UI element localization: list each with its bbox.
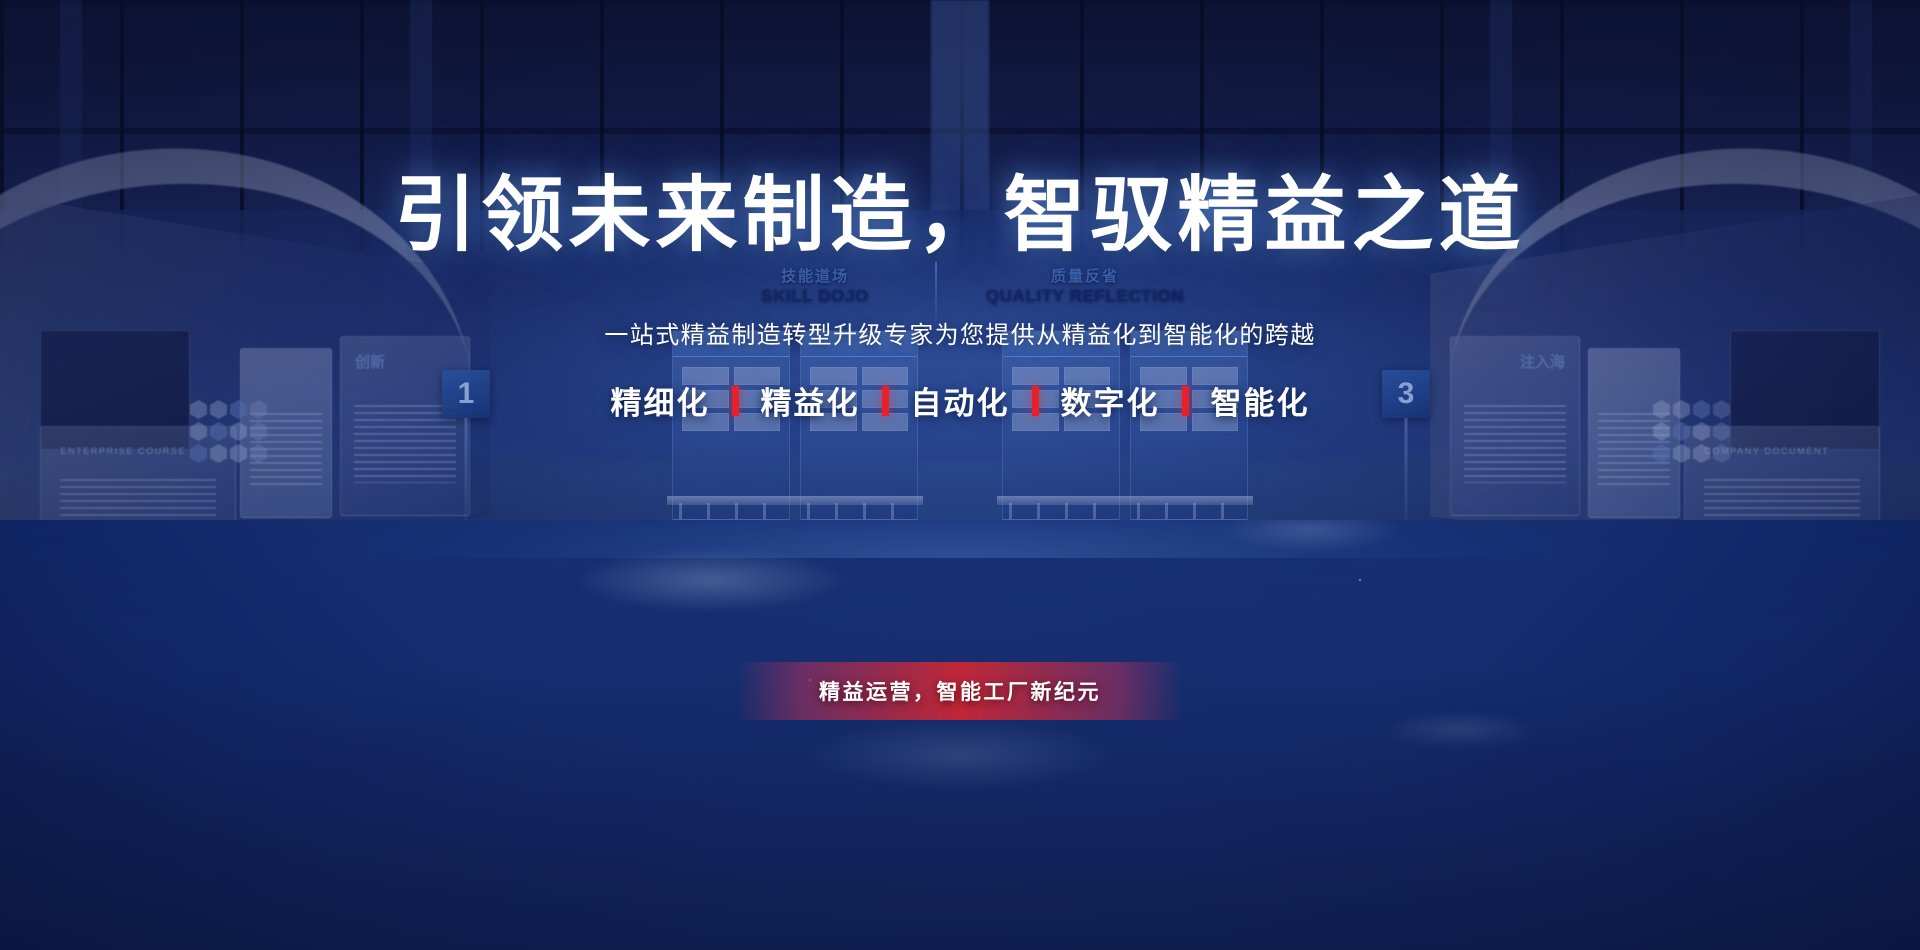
keyword-item: 精益化 bbox=[761, 378, 860, 423]
keyword-separator-icon bbox=[1182, 386, 1189, 416]
keyword-item: 智能化 bbox=[1211, 378, 1310, 423]
keyword-list: 精细化 精益化 自动化 数字化 智能化 bbox=[611, 378, 1310, 423]
keyword-item: 数字化 bbox=[1061, 378, 1160, 423]
keyword-item: 精细化 bbox=[611, 378, 710, 423]
keyword-separator-icon bbox=[882, 386, 889, 416]
banner-content: 引领未来制造，智驭精益之道 一站式精益制造转型升级专家为您提供从精益化到智能化的… bbox=[0, 0, 1920, 950]
keyword-separator-icon bbox=[1032, 386, 1039, 416]
banner-stage: ENTERPRISE COURSE 创新 COMPANY DOCUMENT bbox=[0, 0, 1920, 950]
keyword-item: 自动化 bbox=[911, 378, 1010, 423]
keyword-separator-icon bbox=[732, 386, 739, 416]
headline-title: 引领未来制造，智驭精益之道 bbox=[394, 148, 1525, 267]
subheadline-text: 一站式精益制造转型升级专家为您提供从精益化到智能化的跨越 bbox=[604, 315, 1315, 350]
